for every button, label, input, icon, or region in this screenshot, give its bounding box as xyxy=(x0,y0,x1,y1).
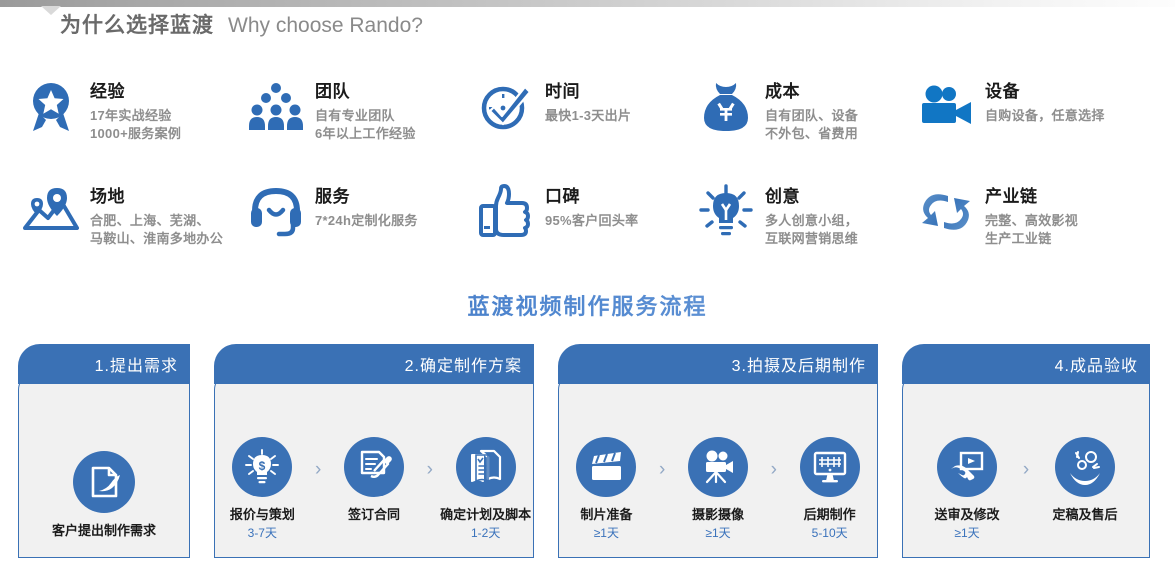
feature-title: 设备 xyxy=(985,82,1105,102)
feature-item-cost: 成本 自有团队、设备 不外包、省费用 xyxy=(697,72,917,177)
svg-text:$: $ xyxy=(259,459,266,473)
feature-text: 经验 17年实战经验 1000+服务案例 xyxy=(90,72,181,143)
feature-text: 口碑 95%客户回头率 xyxy=(545,177,638,230)
process-card-3[interactable]: 制片准备 ≥1天 › 摄影摄像 ≥1天 xyxy=(558,344,878,558)
feature-desc: 合肥、上海、芜湖、 马鞍山、淮南多地办公 xyxy=(90,212,223,248)
recycle-arrows-icon xyxy=(917,183,975,241)
process-card-1[interactable]: 客户提出制作需求 1.提出需求 xyxy=(18,344,190,558)
process-steps: 客户提出制作需求 xyxy=(19,451,189,557)
feature-title: 服务 xyxy=(315,187,418,207)
thumbs-up-icon xyxy=(477,183,535,241)
chevron-right-icon: › xyxy=(1017,459,1035,481)
process-step[interactable]: 摄影摄像 ≥1天 xyxy=(671,437,766,541)
features-grid: 经验 17年实战经验 1000+服务案例 团队 xyxy=(22,72,1162,267)
feature-text: 场地 合肥、上海、芜湖、 马鞍山、淮南多地办公 xyxy=(90,177,223,248)
feature-desc: 7*24h定制化服务 xyxy=(315,212,418,230)
process-step-label: 客户提出制作需求 xyxy=(52,522,156,539)
process-card-header-label: 3.拍摄及后期制作 xyxy=(732,352,866,376)
feature-text: 产业链 完整、高效影视 生产工业链 xyxy=(985,177,1078,248)
process-cards: 客户提出制作需求 1.提出需求 xyxy=(18,344,1150,558)
process-card-header-label: 4.成品验收 xyxy=(1055,352,1138,376)
process-step[interactable]: 确定计划及脚本 1-2天 xyxy=(438,437,533,541)
feature-item-service: 服务 7*24h定制化服务 xyxy=(247,177,477,267)
lightbulb-idea-icon xyxy=(697,183,755,241)
process-step-duration: 5-10天 xyxy=(812,525,848,541)
process-step[interactable]: 后期制作 5-10天 xyxy=(782,437,877,541)
feature-text: 时间 最快1-3天出片 xyxy=(545,72,631,125)
feature-item-time: 时间 最快1-3天出片 xyxy=(477,72,697,177)
clapperboard-icon xyxy=(576,437,636,497)
process-step[interactable]: 送审及修改 ≥1天 xyxy=(917,437,1017,541)
top-notch-triangle-icon xyxy=(41,6,61,15)
process-card-body: 制片准备 ≥1天 › 摄影摄像 ≥1天 xyxy=(558,372,878,558)
feature-item-location: 场地 合肥、上海、芜湖、 马鞍山、淮南多地办公 xyxy=(22,177,247,267)
process-card-header: 3.拍摄及后期制作 xyxy=(558,344,878,384)
chevron-right-icon: › xyxy=(310,459,327,481)
process-step[interactable]: 签订合同 xyxy=(327,437,422,525)
feature-text: 创意 多人创意小组， 互联网营销思维 xyxy=(765,177,858,248)
process-step-label: 摄影摄像 xyxy=(692,506,744,523)
handshake-screen-icon xyxy=(937,437,997,497)
process-step-label: 签订合同 xyxy=(348,506,400,523)
chevron-right-icon: › xyxy=(421,459,438,481)
feature-desc: 完整、高效影视 生产工业链 xyxy=(985,212,1078,248)
feature-desc: 自购设备，任意选择 xyxy=(985,107,1105,125)
chevron-right-icon: › xyxy=(765,459,782,481)
process-card-body: 送审及修改 ≥1天 › 定稿及售后 xyxy=(902,372,1150,558)
feature-text: 团队 自有专业团队 6年以上工作经验 xyxy=(315,72,416,143)
process-card-header: 4.成品验收 xyxy=(902,344,1150,384)
process-step[interactable]: 定稿及售后 xyxy=(1035,437,1135,525)
top-gradient-strip xyxy=(0,0,1175,7)
video-camera-icon xyxy=(917,78,975,136)
feature-item-experience: 经验 17年实战经验 1000+服务案例 xyxy=(22,72,247,177)
process-steps: $ 报价与策划 3-7天 › xyxy=(215,437,533,557)
feature-title: 时间 xyxy=(545,82,631,102)
film-camera-icon xyxy=(688,437,748,497)
page-title: 为什么选择蓝渡Why choose Rando? xyxy=(60,9,423,39)
feature-desc: 自有专业团队 6年以上工作经验 xyxy=(315,107,416,143)
process-step-duration: 3-7天 xyxy=(248,525,277,541)
contract-sign-icon xyxy=(344,437,404,497)
map-location-pin-icon xyxy=(22,183,80,241)
feature-item-creativity: 创意 多人创意小组， 互联网营销思维 xyxy=(697,177,917,267)
feature-desc: 17年实战经验 1000+服务案例 xyxy=(90,107,181,143)
hand-coins-icon xyxy=(1055,437,1115,497)
headset-support-icon xyxy=(247,183,305,241)
feature-desc: 95%客户回头率 xyxy=(545,212,638,230)
feature-desc: 最快1-3天出片 xyxy=(545,107,631,125)
process-step-duration: ≥1天 xyxy=(705,525,730,541)
process-step-label: 后期制作 xyxy=(804,506,856,523)
process-step-label: 制片准备 xyxy=(580,506,632,523)
process-step-label: 定稿及售后 xyxy=(1052,506,1117,523)
feature-title: 团队 xyxy=(315,82,416,102)
clock-check-icon xyxy=(477,78,535,136)
process-steps: 制片准备 ≥1天 › 摄影摄像 ≥1天 xyxy=(559,437,877,557)
feature-title: 成本 xyxy=(765,82,858,102)
ribbon-award-icon xyxy=(22,78,80,136)
process-card-header: 2.确定制作方案 xyxy=(214,344,534,384)
feature-text: 服务 7*24h定制化服务 xyxy=(315,177,418,230)
process-step-label: 报价与策划 xyxy=(230,506,295,523)
feature-item-team: 团队 自有专业团队 6年以上工作经验 xyxy=(247,72,477,177)
page-title-cn: 为什么选择蓝渡 xyxy=(60,14,214,37)
process-card-4[interactable]: 送审及修改 ≥1天 › 定稿及售后 xyxy=(902,344,1150,558)
feature-text: 设备 自购设备，任意选择 xyxy=(985,72,1105,125)
lightbulb-dollar-icon: $ xyxy=(232,437,292,497)
process-step[interactable]: $ 报价与策划 3-7天 xyxy=(215,437,310,541)
process-card-2[interactable]: $ 报价与策划 3-7天 › xyxy=(214,344,534,558)
money-bag-yuan-icon xyxy=(697,78,755,136)
feature-desc: 多人创意小组， 互联网营销思维 xyxy=(765,212,858,248)
process-card-header: 1.提出需求 xyxy=(18,344,190,384)
process-step-duration: 1-2天 xyxy=(471,525,500,541)
document-pen-icon xyxy=(73,451,135,513)
feature-title: 创意 xyxy=(765,187,858,207)
feature-title: 经验 xyxy=(90,82,181,102)
process-step[interactable]: 客户提出制作需求 xyxy=(34,451,174,541)
team-people-icon xyxy=(247,78,305,136)
process-step-duration: ≥1天 xyxy=(954,525,979,541)
process-card-body: $ 报价与策划 3-7天 › xyxy=(214,372,534,558)
process-section-title: 蓝渡视频制作服务流程 xyxy=(0,289,1175,321)
script-documents-icon xyxy=(456,437,516,497)
features-row-1: 经验 17年实战经验 1000+服务案例 团队 xyxy=(22,72,1162,177)
page-title-en: Why choose Rando? xyxy=(228,14,423,37)
process-steps: 送审及修改 ≥1天 › 定稿及售后 xyxy=(903,437,1149,557)
process-card-body: 客户提出制作需求 xyxy=(18,372,190,558)
process-step-label: 送审及修改 xyxy=(934,506,999,523)
chevron-right-icon: › xyxy=(654,459,671,481)
feature-item-equipment: 设备 自购设备，任意选择 xyxy=(917,72,1157,177)
monitor-edit-icon xyxy=(800,437,860,497)
feature-title: 产业链 xyxy=(985,187,1078,207)
feature-item-reputation: 口碑 95%客户回头率 xyxy=(477,177,697,267)
feature-desc: 自有团队、设备 不外包、省费用 xyxy=(765,107,858,143)
features-row-2: 场地 合肥、上海、芜湖、 马鞍山、淮南多地办公 服务 7*24h定制化服务 xyxy=(22,177,1162,267)
process-step[interactable]: 制片准备 ≥1天 xyxy=(559,437,654,541)
process-step-label: 确定计划及脚本 xyxy=(440,506,531,523)
feature-title: 口碑 xyxy=(545,187,638,207)
process-card-header-label: 2.确定制作方案 xyxy=(405,352,522,376)
feature-item-industry-chain: 产业链 完整、高效影视 生产工业链 xyxy=(917,177,1157,267)
feature-title: 场地 xyxy=(90,187,223,207)
process-card-header-label: 1.提出需求 xyxy=(95,352,178,376)
process-step-duration: ≥1天 xyxy=(594,525,619,541)
feature-text: 成本 自有团队、设备 不外包、省费用 xyxy=(765,72,858,143)
